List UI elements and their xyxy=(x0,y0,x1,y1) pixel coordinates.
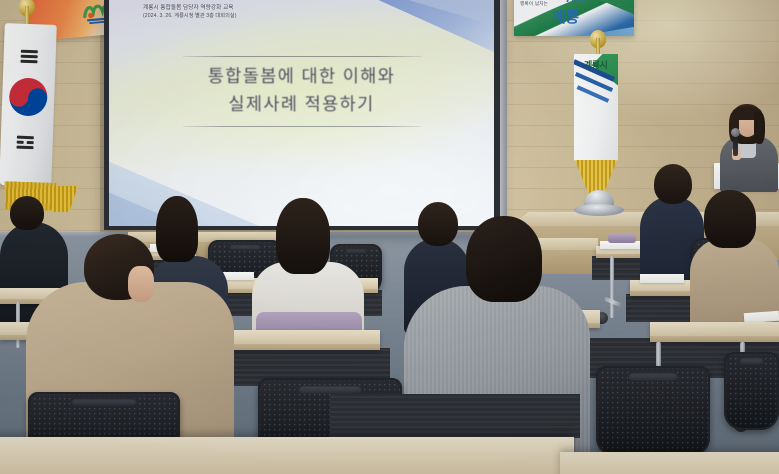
slide-header-line-2: (2024. 3. 26. 계룡시청 별관 3층 대회의실) xyxy=(143,13,333,20)
projection-screen-frame: 계룡시 통합돌봄 담당자 역량강화 교육 (2024. 3. 26. 계룡시청 … xyxy=(104,0,500,230)
microphone-body-icon xyxy=(733,134,738,156)
trigram-bar xyxy=(21,50,38,53)
city-flag-stand-base xyxy=(574,204,624,216)
city-flag-label: 계룡시 xyxy=(584,58,607,71)
slide-header-text: 계룡시 통합돌봄 담당자 역량강화 교육 (2024. 3. 26. 계룡시청 … xyxy=(143,5,333,20)
trigram-bar xyxy=(27,141,34,144)
desk-modesty-panel xyxy=(330,394,580,438)
banner-city-name: 계룡 xyxy=(552,6,579,27)
paper-sheet xyxy=(640,274,684,283)
trigram-bar xyxy=(21,55,38,58)
attendee-head xyxy=(418,202,458,246)
slide-header-line-1: 계룡시 통합돌봄 담당자 역량강화 교육 xyxy=(143,5,333,13)
attendee-head xyxy=(466,216,542,302)
projection-screen-surface: 계룡시 통합돌봄 담당자 역량강화 교육 (2024. 3. 26. 계룡시청 … xyxy=(109,0,494,226)
banner-yes-text: Yes! xyxy=(564,0,589,5)
presenter-hair-right xyxy=(754,112,765,144)
foreground-desk-right xyxy=(560,452,779,474)
right-wall-banner: 행복이 넘치는 Yes! 계룡 xyxy=(514,0,634,36)
trigram-bar xyxy=(17,141,24,144)
trigram-bar xyxy=(16,146,33,149)
attendee-head xyxy=(704,190,756,248)
desk-row1-right xyxy=(650,322,779,342)
chair-row1-right xyxy=(596,366,710,456)
trigram-bar xyxy=(17,136,34,139)
attendee-ear-cheek xyxy=(128,266,154,302)
attendee-head-long-hair xyxy=(276,198,330,274)
slide-rule-bottom xyxy=(183,126,421,127)
microphone-head-icon xyxy=(731,128,740,137)
attendee-head xyxy=(10,196,44,230)
taegukgi-cloth xyxy=(0,23,57,187)
city-flag: 계룡시 xyxy=(560,38,630,248)
city-flag-fringe xyxy=(575,160,617,194)
slide-title-line-1: 통합돌봄에 대한 이해와 xyxy=(109,57,494,90)
slide-title-line-2: 실제사례 적용하기 xyxy=(109,90,494,118)
attendee-head-long-hair xyxy=(156,196,198,262)
seminar-room-photograph: 행복이 넘치는 Yes! 계룡 육 계룡시 통합돌봄 담당자 역량강화 교육 (… xyxy=(0,0,779,474)
chair-row1-far-right xyxy=(724,352,779,430)
desk-leg xyxy=(610,256,614,318)
foreground-desk-left xyxy=(0,437,574,474)
presenter xyxy=(718,104,779,188)
purple-pouch xyxy=(608,234,636,243)
taegeuk-circle-icon xyxy=(9,77,48,116)
banner-slogan: 행복이 넘치는 xyxy=(520,1,548,7)
trigram-bar xyxy=(20,60,37,63)
attendee-head xyxy=(654,164,692,204)
slide-title-block: 통합돌봄에 대한 이해와 실제사례 적용하기 xyxy=(109,56,494,127)
